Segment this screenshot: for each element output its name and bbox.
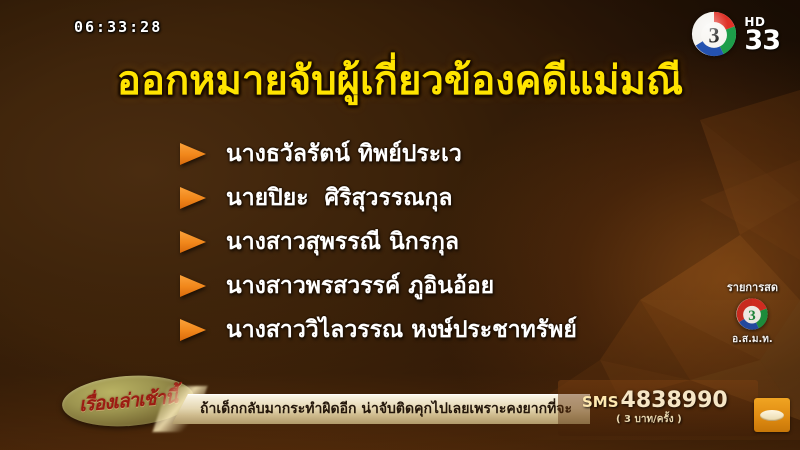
- orange-triangle-bullet-icon: [178, 229, 208, 255]
- channel-logo: 3 HD 33: [690, 10, 780, 58]
- sponsor-badge-icon: [754, 398, 790, 432]
- page-title: ออกหมายจับผู้เกี่ยวข้องคดีแม่มณี: [0, 58, 800, 104]
- arrest-warrant-name-list: นางธวัลรัตน์ ทิพย์ประเว นายปิยะ ศิริสุวร…: [178, 132, 577, 352]
- live-organization-label: อ.ส.ม.ท.: [732, 332, 773, 347]
- list-item-label: นางสาวพรสวรรค์ ภูอินอ้อย: [226, 268, 494, 304]
- channel-number-block: HD 33: [744, 16, 780, 54]
- channel-number: 33: [744, 27, 780, 54]
- list-item-label: นางสาวสุพรรณี นิกรกุล: [226, 224, 459, 260]
- list-item: นายปิยะ ศิริสุวรรณกุล: [178, 176, 577, 220]
- show-logo: เรื่องเล่าเช้านี้: [62, 376, 194, 426]
- sms-info: SMS 4838990 ( 3 บาท/ครั้ง ): [582, 388, 734, 428]
- news-ticker: ถ้าเด็กกลับมากระทำผิดอีก น่าจับติดคุกไปเ…: [172, 394, 590, 424]
- list-item: นางสาวพรสวรรค์ ภูอินอ้อย: [178, 264, 577, 308]
- orange-triangle-bullet-icon: [178, 273, 208, 299]
- live-label: รายการสด: [727, 278, 778, 296]
- live-broadcast-watermark: รายการสด 3 อ.ส.ม.ท.: [727, 278, 778, 347]
- orange-triangle-bullet-icon: [178, 141, 208, 167]
- list-item-label: นางธวัลรัตน์ ทิพย์ประเว: [226, 136, 462, 172]
- orange-triangle-bullet-icon: [178, 185, 208, 211]
- svg-text:3: 3: [749, 308, 756, 324]
- sponsor-badge-oval: [760, 410, 784, 421]
- channel-3-small-logo-icon: 3: [735, 297, 769, 331]
- channel-3-logo-icon: 3: [690, 10, 738, 58]
- lower-third-bar: เรื่องเล่าเช้านี้ ถ้าเด็กกลับมากระทำผิดอ…: [0, 378, 800, 450]
- list-item: นางธวัลรัตน์ ทิพย์ประเว: [178, 132, 577, 176]
- sms-rate-label: ( 3 บาท/ครั้ง ): [616, 412, 682, 427]
- list-item-label: นางสาววิไลวรรณ หงษ์ประชาทรัพย์: [226, 312, 577, 348]
- broadcast-screen: 06:33:28 3 HD 33 ออกหมายจับผู้เกี่ยวข้อง…: [0, 0, 800, 450]
- broadcast-clock: 06:33:28: [74, 18, 162, 36]
- list-item: นางสาววิไลวรรณ หงษ์ประชาทรัพย์: [178, 308, 577, 352]
- orange-triangle-bullet-icon: [178, 317, 208, 343]
- news-ticker-text: ถ้าเด็กกลับมากระทำผิดอีก น่าจับติดคุกไปเ…: [172, 398, 572, 420]
- list-item-label: นายปิยะ ศิริสุวรรณกุล: [226, 180, 453, 216]
- sms-label: SMS: [582, 393, 619, 411]
- list-item: นางสาวสุพรรณี นิกรกุล: [178, 220, 577, 264]
- sms-number-line: SMS 4838990: [582, 388, 728, 413]
- sms-number: 4838990: [621, 388, 728, 413]
